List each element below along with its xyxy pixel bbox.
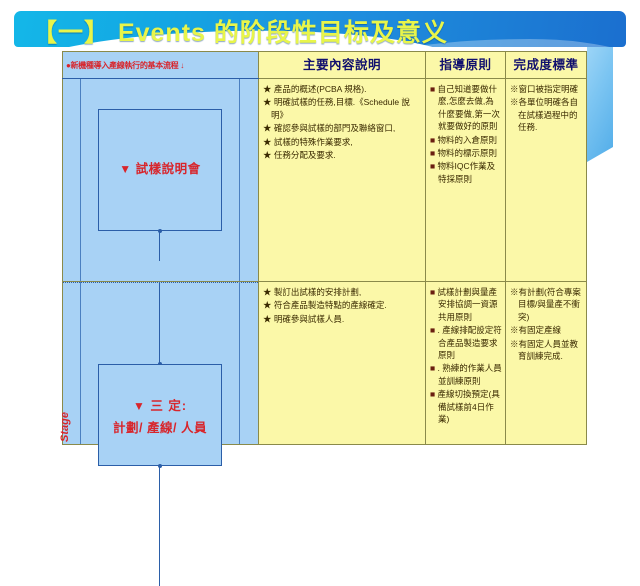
table-header-row: ●新機種導入產線執行的基本流程 ↓ 主要內容說明 指導原則 完成度標準 [63, 52, 587, 79]
slide-title-banner: 【一】 Events 的阶段性目标及意义 [14, 11, 626, 47]
list-item: 製訂出試樣的安排計劃, [263, 286, 422, 298]
content-list-1: 產品的概述(PCBA 規格). 明確試樣的任務,目標.《Schedule 說明》… [263, 83, 422, 161]
content-cell-2: 製訂出試樣的安排計劃, 符合產品製造特點的產線確定. 明確參與試樣人員. [259, 282, 426, 445]
flow-box-2-sublabel: 計劃/ 產線/ 人員 [99, 417, 221, 436]
list-item: 確認參與試樣的部門及聯絡窗口, [263, 122, 422, 134]
flow-connector-2-top [159, 282, 160, 366]
list-item: 任務分配及要求. [263, 149, 422, 161]
standards-cell-1: 窗口被指定明確 各單位明確各自在試樣過程中的任務. [506, 79, 587, 282]
content-list-2: 製訂出試樣的安排計劃, 符合產品製造特點的產線確定. 明確參與試樣人員. [263, 286, 422, 325]
flow-connector-dot [158, 229, 162, 233]
flow-rail-right [239, 282, 240, 444]
content-cell-1: 產品的概述(PCBA 規格). 明確試樣的任務,目標.《Schedule 說明》… [259, 79, 426, 282]
triangle-marker-icon: ▼ [133, 399, 146, 413]
list-item: 各單位明確各自在試樣過程中的任務. [510, 96, 583, 133]
list-item: 窗口被指定明確 [510, 83, 583, 95]
flow-box-three-fixed[interactable]: ▼ 三 定: 計劃/ 產線/ 人員 [98, 364, 222, 466]
list-item: 有固定產線 [510, 324, 583, 336]
list-item: 產品的概述(PCBA 規格). [263, 83, 422, 95]
flow-rail-left [80, 79, 81, 281]
list-item: 有計劃(符合專案目標/與量產不衝突) [510, 286, 583, 323]
standards-cell-2: 有計劃(符合專案目標/與量產不衝突) 有固定產線 有固定人員並教育訓練完成. [506, 282, 587, 445]
list-item: 產線切換預定(具備試樣前4日作業) [430, 388, 502, 425]
header-content-label: 主要內容說明 [259, 52, 425, 78]
list-item: . 產線排配設定符合產品製造要求原則 [430, 324, 502, 361]
header-cell-principles: 指導原則 [426, 52, 506, 79]
stage-axis-label: Stage [59, 412, 71, 442]
page-title: 【一】 Events 的阶段性目标及意义 [32, 13, 448, 47]
list-item: 物料的入倉原則 [430, 134, 502, 146]
stage-cell-1: ▼ 試樣說明會 [63, 79, 259, 282]
principles-cell-1: 自己知道要做什麼,怎麼去做,為什麼要做,第一次就要做好的原則 物料的入倉原則 物… [426, 79, 506, 282]
standards-list-1: 窗口被指定明確 各單位明確各自在試樣過程中的任務. [510, 83, 583, 134]
list-item: 符合產品製造特點的產線確定. [263, 299, 422, 311]
flow-box-2-label: ▼ 三 定: [99, 395, 221, 414]
flow-connector-1 [159, 231, 160, 261]
principles-list-1: 自己知道要做什麼,怎麼去做,為什麼要做,第一次就要做好的原則 物料的入倉原則 物… [430, 83, 502, 185]
header-stage-note: ●新機種導入產線執行的基本流程 ↓ [66, 60, 184, 71]
triangle-marker-icon: ▼ [119, 162, 131, 176]
list-item: 物料IQC作業及特採原則 [430, 160, 502, 185]
list-item: 自己知道要做什麼,怎麼去做,為什麼要做,第一次就要做好的原則 [430, 83, 502, 133]
list-item: 物料的標示原則 [430, 147, 502, 159]
list-item: 有固定人員並教育訓練完成. [510, 338, 583, 363]
list-item: 明確試樣的任務,目標.《Schedule 說明》 [263, 96, 422, 121]
principles-cell-2: 試樣計劃與量產安排協調一資源共用原則 . 產線排配設定符合產品製造要求原則 . … [426, 282, 506, 445]
header-standards-label: 完成度標準 [506, 52, 586, 78]
flow-box-trial-briefing[interactable]: ▼ 試樣說明會 [98, 109, 222, 231]
list-item: 試樣的特殊作業要求, [263, 136, 422, 148]
table-3d-edge-decoration [587, 27, 613, 162]
principles-list-2: 試樣計劃與量產安排協調一資源共用原則 . 產線排配設定符合產品製造要求原則 . … [430, 286, 502, 425]
table-row: ▼ 三 定: 計劃/ 產線/ 人員 Stage 製訂出試樣的安排計劃, 符合產品… [63, 282, 587, 445]
stage-cell-2: ▼ 三 定: 計劃/ 產線/ 人員 Stage [63, 282, 259, 445]
flow-rail-left [80, 282, 81, 444]
list-item: 明確參與試樣人員. [263, 313, 422, 325]
standards-list-2: 有計劃(符合專案目標/與量產不衝突) 有固定產線 有固定人員並教育訓練完成. [510, 286, 583, 362]
flow-connector-2-bottom [159, 466, 160, 586]
table-row: ▼ 試樣說明會 產品的概述(PCBA 規格). 明確試樣的任務,目標.《Sche… [63, 79, 587, 282]
list-item: . 熟練的作業人員並訓練原則 [430, 362, 502, 387]
header-cell-content: 主要內容說明 [259, 52, 426, 79]
stage-row-divider [63, 282, 258, 283]
header-principles-label: 指導原則 [426, 52, 505, 78]
header-cell-stage: ●新機種導入產線執行的基本流程 ↓ [63, 52, 259, 79]
flow-box-1-label: ▼ 試樣說明會 [99, 158, 221, 177]
header-cell-standards: 完成度標準 [506, 52, 587, 79]
flow-rail-right [239, 79, 240, 281]
process-flow-table: ●新機種導入產線執行的基本流程 ↓ 主要內容說明 指導原則 完成度標準 ▼ 試樣… [62, 51, 587, 445]
list-item: 試樣計劃與量產安排協調一資源共用原則 [430, 286, 502, 323]
